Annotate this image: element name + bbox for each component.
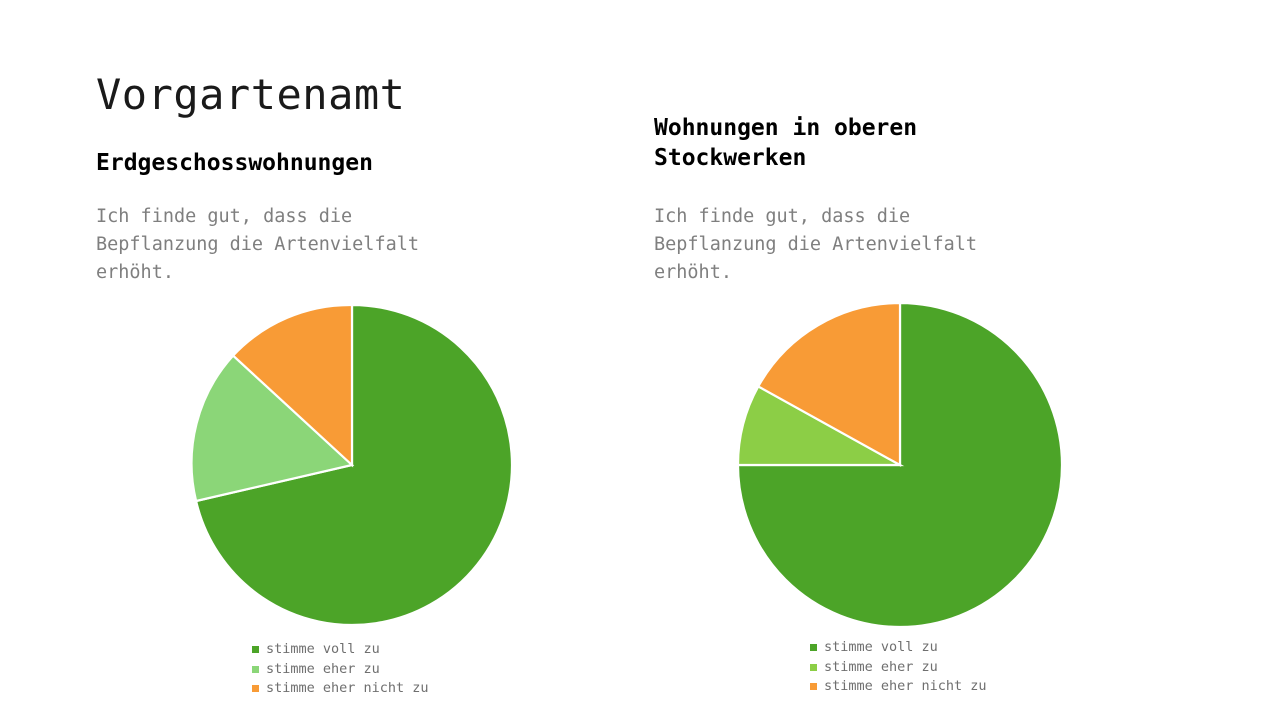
- pie-chart-svg: [188, 301, 518, 631]
- panel-heading: Erdgeschosswohnungen: [96, 148, 516, 178]
- legend-item: stimme eher zu: [810, 658, 987, 678]
- pie-chart-wohnungen-obere-stockwerke: [654, 290, 1194, 640]
- panel-wohnungen-obere-stockwerke: Wohnungen in oberen Stockwerken Ich find…: [654, 0, 1194, 720]
- legend-label: stimme eher zu: [824, 658, 938, 678]
- legend-swatch-icon: [810, 664, 817, 671]
- legend-item: stimme voll zu: [252, 640, 429, 660]
- legend-erdgeschosswohnungen: stimme voll zu stimme eher zu stimme ehe…: [252, 640, 429, 699]
- legend-item: stimme voll zu: [810, 638, 987, 658]
- legend-item: stimme eher zu: [252, 660, 429, 680]
- legend-label: stimme eher nicht zu: [266, 679, 429, 699]
- legend-label: stimme voll zu: [824, 638, 938, 658]
- legend-swatch-icon: [252, 685, 259, 692]
- panel-question: Ich finde gut, dass die Bepflanzung die …: [96, 203, 548, 286]
- panel-question: Ich finde gut, dass die Bepflanzung die …: [654, 203, 1106, 286]
- legend-item: stimme eher nicht zu: [810, 677, 987, 697]
- slide-canvas: Vorgartenamt Erdgeschosswohnungen Ich fi…: [0, 0, 1280, 720]
- legend-label: stimme voll zu: [266, 640, 380, 660]
- pie-chart-svg: [734, 299, 1068, 633]
- legend-label: stimme eher zu: [266, 660, 380, 680]
- legend-label: stimme eher nicht zu: [824, 677, 987, 697]
- legend-swatch-icon: [810, 644, 817, 651]
- legend-wohnungen-obere-stockwerke: stimme voll zu stimme eher zu stimme ehe…: [810, 638, 987, 697]
- legend-swatch-icon: [252, 646, 259, 653]
- pie-chart-erdgeschosswohnungen: [96, 290, 636, 640]
- panel-heading: Wohnungen in oberen Stockwerken: [654, 113, 1074, 174]
- legend-swatch-icon: [810, 683, 817, 690]
- legend-swatch-icon: [252, 666, 259, 673]
- panel-erdgeschosswohnungen: Erdgeschosswohnungen Ich finde gut, dass…: [96, 0, 636, 720]
- legend-item: stimme eher nicht zu: [252, 679, 429, 699]
